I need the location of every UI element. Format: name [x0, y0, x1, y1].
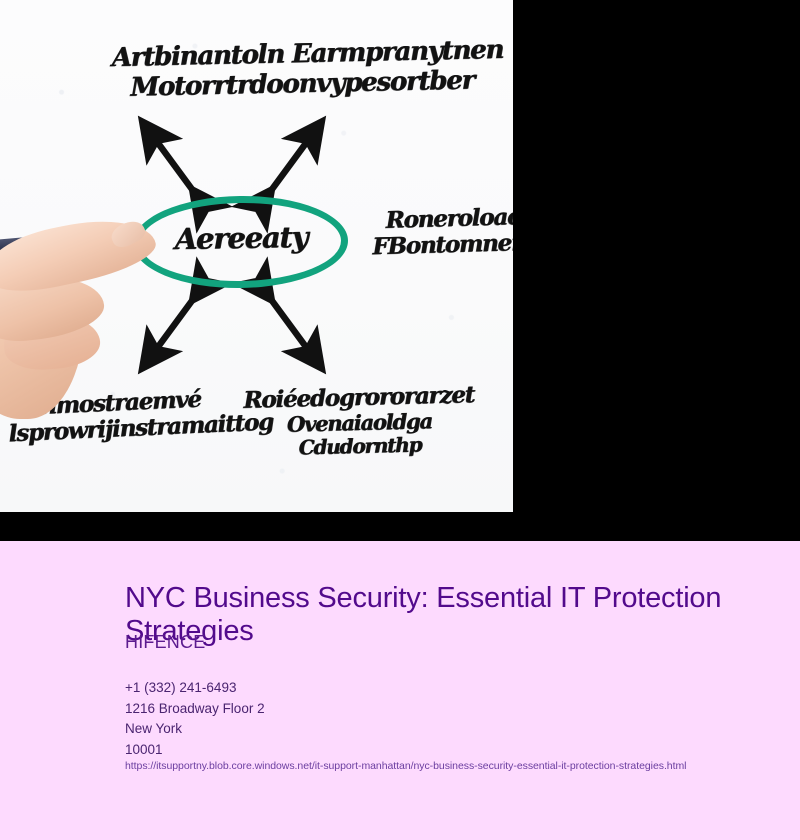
hand-holding-marker [0, 195, 175, 420]
diagram-label-right-line-2: FBontomnenduoln [372, 228, 513, 260]
brand-name: HIFENCE [125, 632, 205, 653]
diagram-label-top-line-2: Motorrtrdoonvypesortber [130, 66, 504, 103]
media-region: Artbinantoln Earmpranytnen Motorrtrdoonv… [0, 0, 800, 541]
arrow-up-left-icon [136, 116, 202, 198]
fingernail-shape [108, 216, 148, 251]
source-url-link[interactable]: https://itsupportny.blob.core.windows.ne… [125, 760, 686, 772]
diagram-label-right: Roneroloaon FBontomnenduoln [385, 202, 513, 260]
info-panel: NYC Business Security: Essential IT Prot… [0, 541, 800, 840]
contact-phone[interactable]: +1 (332) 241-6493 [125, 678, 265, 699]
contact-street: 1216 Broadway Floor 2 [125, 699, 265, 720]
contact-postal-code: 10001 [125, 740, 265, 761]
concept-oval-label: Aereeaty [150, 220, 333, 256]
arrow-down-right-icon [262, 292, 328, 374]
contact-block: +1 (332) 241-6493 1216 Broadway Floor 2 … [125, 678, 265, 760]
diagram-label-top: Artbinantoln Earmpranytnen Motorrtrdoonv… [111, 36, 504, 103]
page-title: NYC Business Security: Essential IT Prot… [125, 582, 725, 647]
contact-city: New York [125, 719, 265, 740]
whiteboard-photo: Artbinantoln Earmpranytnen Motorrtrdoonv… [0, 0, 513, 512]
diagram-label-bottom-right-line-3: Cdudornthp [244, 432, 475, 460]
diagram-label-bottom-right: Roiéedogrororarzet Ovenaiaoldga Cdudornt… [243, 382, 475, 461]
arrow-up-right-icon [262, 116, 328, 198]
